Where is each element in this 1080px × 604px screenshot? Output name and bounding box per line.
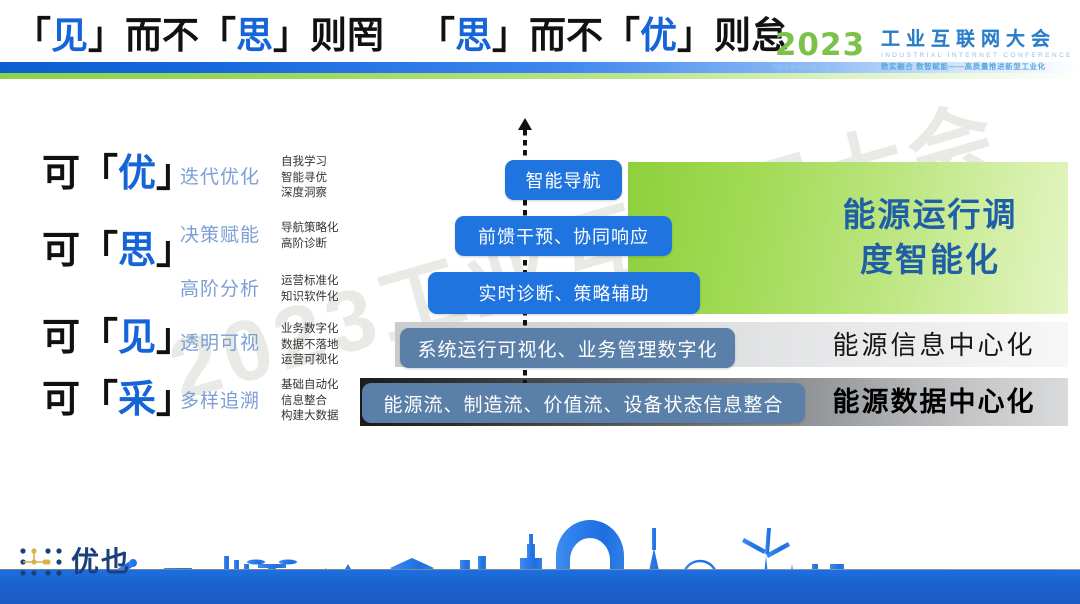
conference-logo: 2023 中国·苏州·4月14日-15日 工业互联网大会 INDUSTRIAL … xyxy=(772,22,1072,78)
gray-bar-data-label: 能源数据中心化 xyxy=(800,386,1068,419)
footer-water-band xyxy=(0,570,1080,604)
green-panel-label: 能源运行调 度智能化 xyxy=(790,192,1070,282)
arrow-up-icon xyxy=(518,118,532,132)
ladder-row-5-subtitle: 多样追溯 xyxy=(180,390,260,414)
conference-name-cn: 工业互联网大会 xyxy=(881,29,1073,50)
ladder-row-1-title: 可「优」 xyxy=(42,152,194,196)
ladder-row-1-subtitle: 迭代优化 xyxy=(180,166,260,190)
conference-tagline: 数实融合 数智赋能——高质量推进新型工业化 xyxy=(881,61,1073,72)
ladder-row-5-detail-2: 信息整合 xyxy=(281,394,339,410)
title-text-2: 」则罔 xyxy=(273,15,384,56)
slide-root: 「见」而不「思」则罔「思」而不「优」则怠 2023 中国·苏州·4月14日-15… xyxy=(0,0,1080,604)
ladder-row-4-detail-2: 数据不落地 xyxy=(281,338,339,354)
ladder-row-2-keyword: 思 xyxy=(118,230,156,272)
page-title: 「见」而不「思」则罔「思」而不「优」则怠 xyxy=(14,13,794,59)
ladder-row-1-detail-1: 自我学习 xyxy=(281,155,327,171)
pill-feedforward-response[interactable]: 前馈干预、协同响应 xyxy=(455,216,672,256)
ladder-row-4-title: 可「见」 xyxy=(42,316,194,360)
ladder-row-1-details: 自我学习 智能寻优 深度洞察 xyxy=(281,155,327,202)
ladder-row-5-detail-3: 构建大数据 xyxy=(281,409,339,425)
title-bracket-1: 「 xyxy=(14,15,51,56)
title-keyword-you: 优 xyxy=(640,15,677,56)
ladder-row-1-pre: 可「 xyxy=(42,153,118,195)
title-keyword-jian: 见 xyxy=(51,15,88,56)
green-panel-label-line1: 能源运行调 xyxy=(790,192,1070,237)
title-text-1: 」而不「 xyxy=(88,15,236,56)
ladder-row-3-subtitle: 高阶分析 xyxy=(180,278,260,302)
ladder-row-2-detail-2: 高阶诊断 xyxy=(281,237,339,253)
conference-name-block: 工业互联网大会 INDUSTRIAL INTERNET CONFERENCE 数… xyxy=(881,29,1073,72)
ladder-row-2-detail-1: 导航策略化 xyxy=(281,221,339,237)
pill-data-integration[interactable]: 能源流、制造流、价值流、设备状态信息整合 xyxy=(362,383,805,423)
ladder-row-4-detail-1: 业务数字化 xyxy=(281,322,339,338)
ladder-row-2-subtitle: 决策赋能 xyxy=(180,224,260,248)
conference-name-en: INDUSTRIAL INTERNET CONFERENCE xyxy=(881,51,1073,61)
title-keyword-si-2: 思 xyxy=(455,15,492,56)
title-bracket-2: 「 xyxy=(418,15,455,56)
ladder-row-1-detail-3: 深度洞察 xyxy=(281,186,327,202)
pill-intelligent-navigation[interactable]: 智能导航 xyxy=(505,160,622,200)
ladder-row-3-detail-2: 知识软件化 xyxy=(281,290,339,306)
ladder-row-4-keyword: 见 xyxy=(118,317,156,359)
conference-date-location: 中国·苏州·4月14日-15日 xyxy=(772,64,868,71)
pill-realtime-diagnosis[interactable]: 实时诊断、策略辅助 xyxy=(428,272,700,314)
ladder-row-4-pre: 可「 xyxy=(42,317,118,359)
ladder-row-3-detail-1: 运营标准化 xyxy=(281,274,339,290)
ladder-row-2-pre: 可「 xyxy=(42,230,118,272)
ladder-row-1-detail-2: 智能寻优 xyxy=(281,171,327,187)
ladder-row-5-pre: 可「 xyxy=(42,379,118,421)
gray-bar-info-label: 能源信息中心化 xyxy=(800,330,1068,362)
ladder-row-5-details: 基础自动化 信息整合 构建大数据 xyxy=(281,378,339,425)
ladder-row-5-keyword: 采 xyxy=(118,379,156,421)
ladder-row-2-title: 可「思」 xyxy=(42,229,194,273)
dot-matrix-icon xyxy=(18,545,64,579)
ladder-row-4-subtitle: 透明可视 xyxy=(180,332,260,356)
green-panel-label-line2: 度智能化 xyxy=(790,237,1070,282)
ladder-row-4-detail-3: 运营可视化 xyxy=(281,353,339,369)
ladder-row-2-details: 导航策略化 高阶诊断 xyxy=(281,221,339,252)
conference-year-block: 2023 中国·苏州·4月14日-15日 xyxy=(772,30,868,71)
brand-name: 优也 xyxy=(71,546,131,578)
ladder-row-4-details: 业务数字化 数据不落地 运营可视化 xyxy=(281,322,339,369)
brand-logo: 优也 xyxy=(18,542,131,582)
title-text-3: 」而不「 xyxy=(492,15,640,56)
title-keyword-si-1: 思 xyxy=(236,15,273,56)
ladder-row-5-title: 可「采」 xyxy=(42,378,194,422)
conference-year: 2023 xyxy=(772,30,868,61)
ladder-row-3-details: 运营标准化 知识软件化 xyxy=(281,274,339,305)
ladder-row-5-detail-1: 基础自动化 xyxy=(281,378,339,394)
ladder-row-1-keyword: 优 xyxy=(118,153,156,195)
pill-system-visualization[interactable]: 系统运行可视化、业务管理数字化 xyxy=(400,328,735,368)
